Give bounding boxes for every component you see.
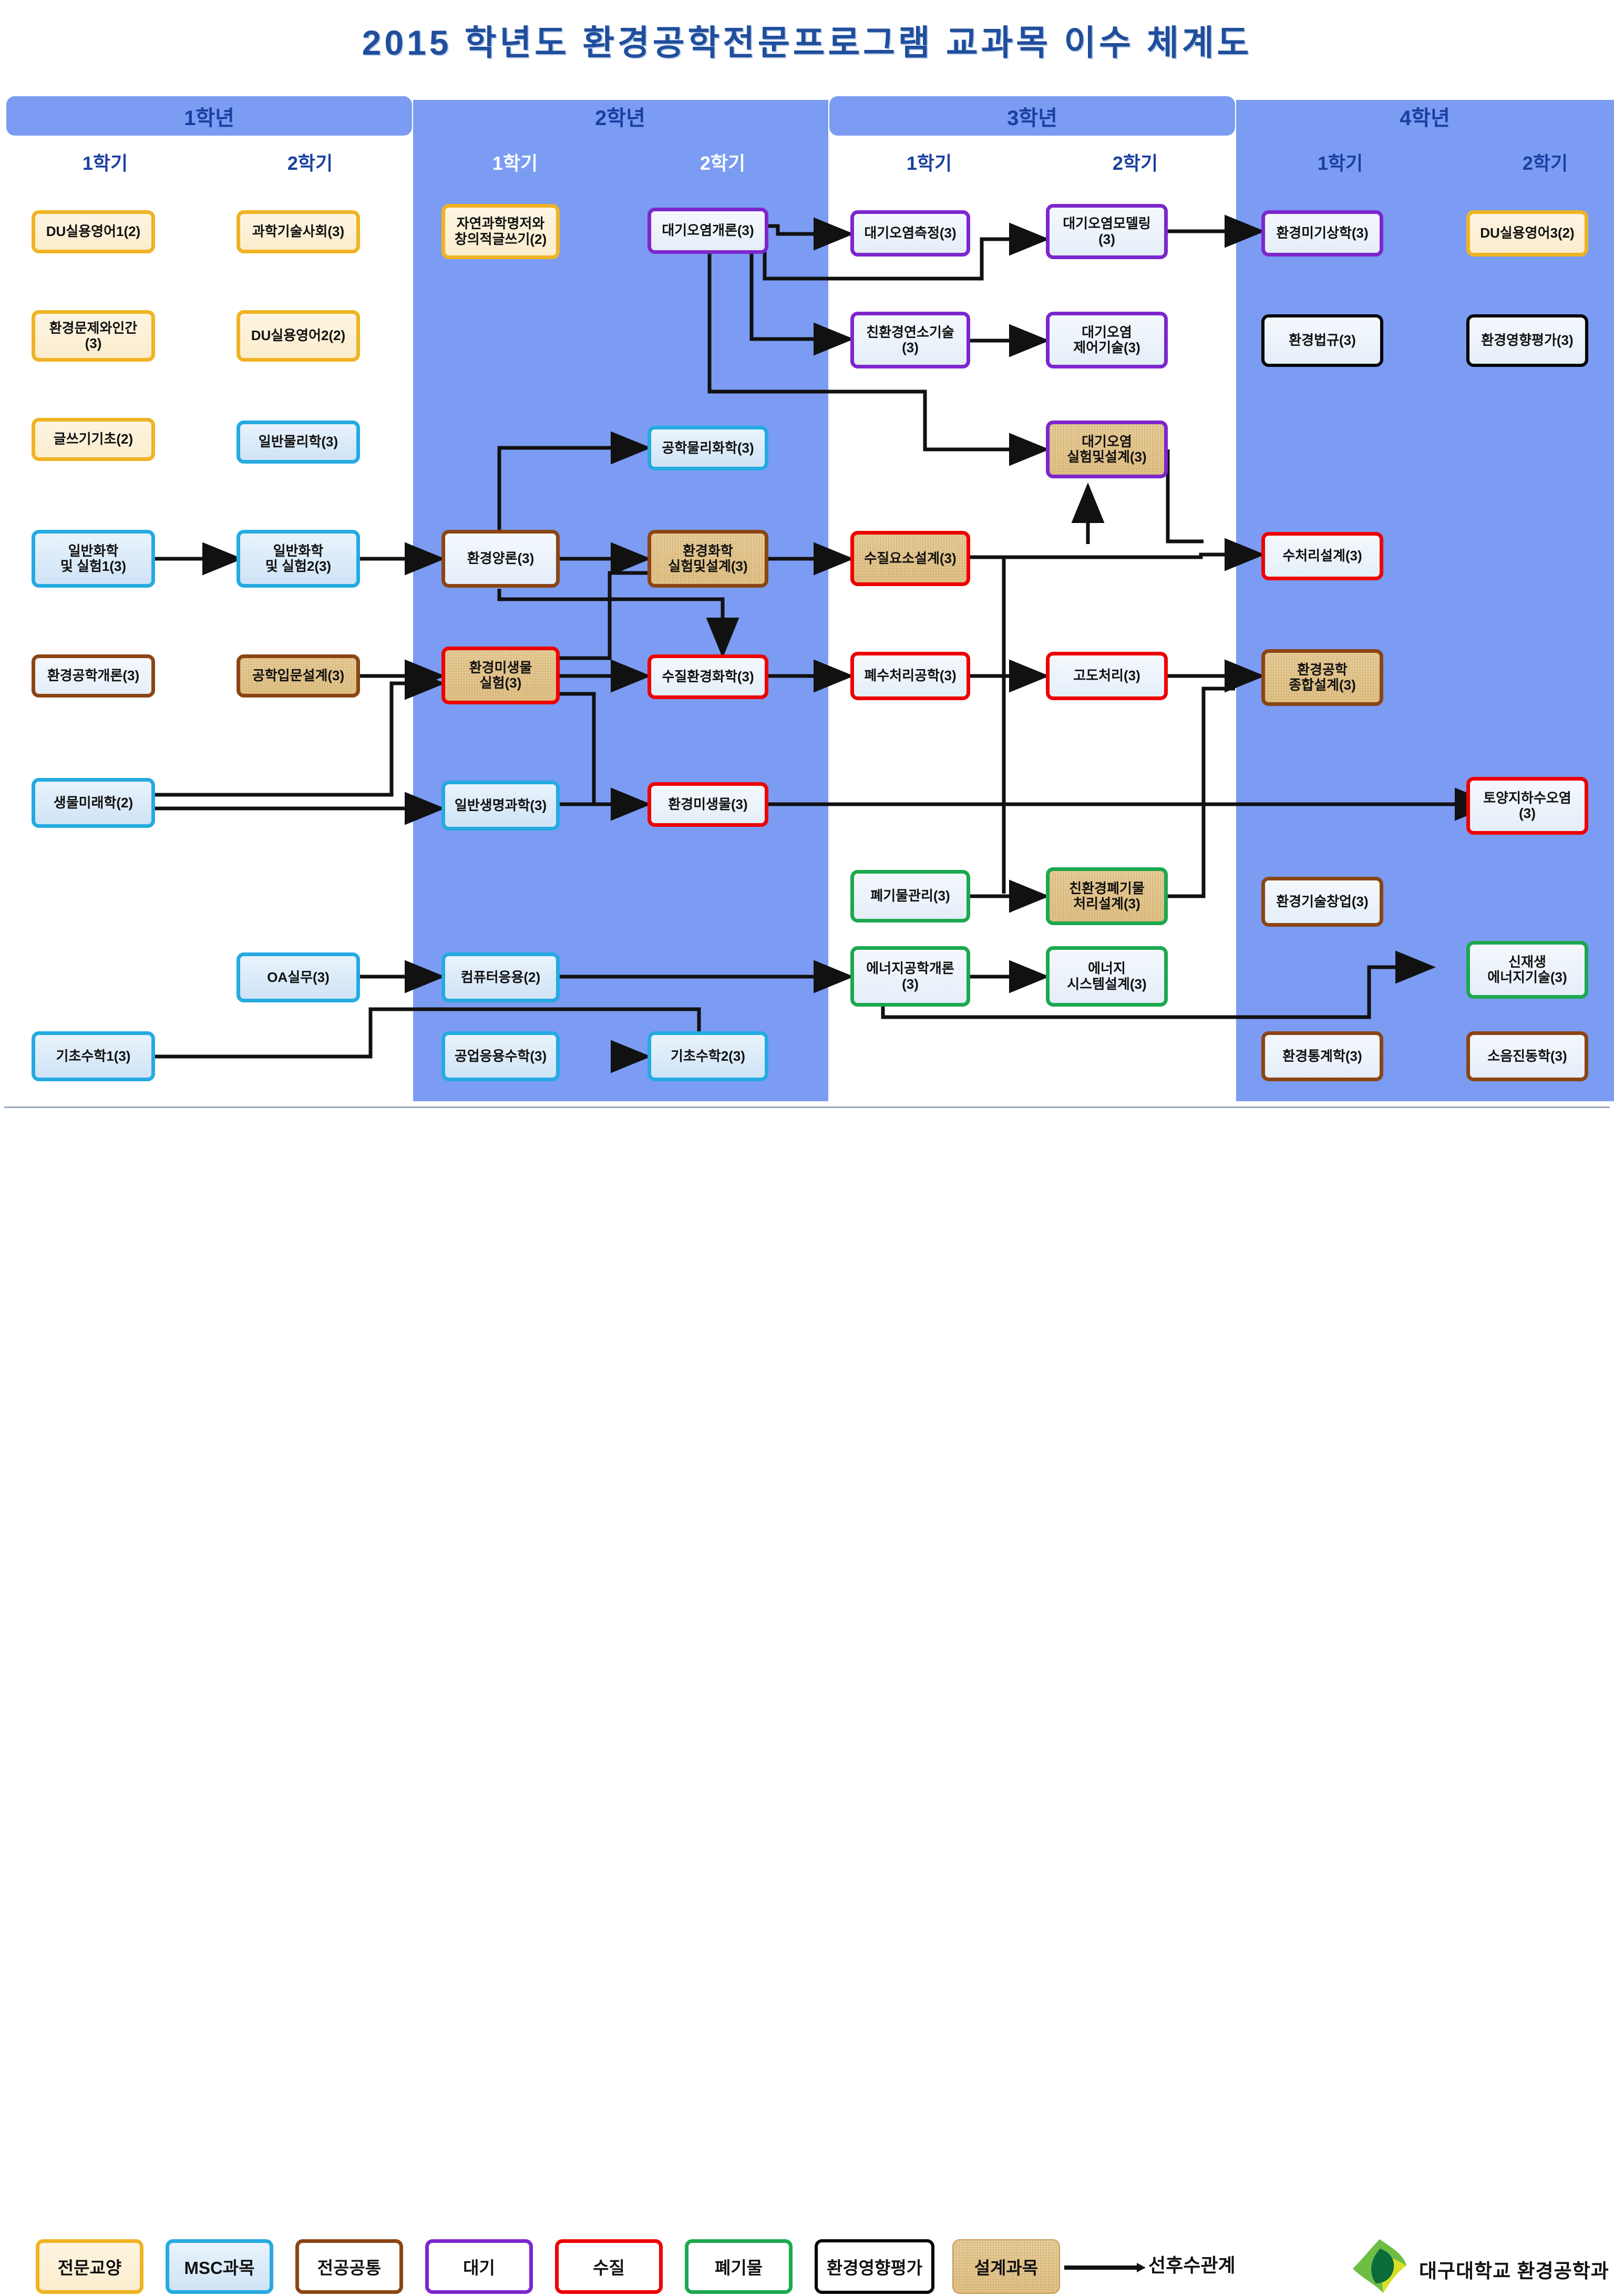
course-sciwrite[interactable]: 자연과학명저와 창의적글쓰기(2) (441, 204, 560, 259)
course-renewable[interactable]: 신재생 에너지기술(3) (1466, 941, 1588, 999)
course-advtreat[interactable]: 고도처리(3) (1046, 652, 1168, 700)
course-wastemgmt[interactable]: 폐기물관리(3) (850, 870, 970, 922)
year-header-1: 1학년 (6, 96, 412, 136)
course-aircontrol[interactable]: 대기오염 제어기술(3) (1046, 312, 1168, 368)
course-genphys[interactable]: 일반물리학(3) (237, 421, 360, 464)
prerequisite-arrow-icon (1064, 2262, 1146, 2273)
course-du3[interactable]: DU실용영어3(2) (1466, 210, 1588, 257)
course-ecowaste[interactable]: 친환경폐기물 처리설계(3) (1046, 867, 1168, 925)
course-waterunit[interactable]: 수질요소설계(3) (850, 531, 970, 586)
year-header-3: 3학년 (829, 96, 1235, 136)
legend-item-water: 수질 (555, 2239, 663, 2294)
course-biofuture[interactable]: 생물미래학(2) (32, 778, 155, 828)
course-engmath[interactable]: 공업응용수학(3) (441, 1031, 560, 1081)
course-envstats[interactable]: 환경통계학(3) (1261, 1031, 1383, 1081)
course-scitech[interactable]: 과학기술사회(3) (237, 210, 360, 253)
legend-item-design: 설계과목 (952, 2239, 1060, 2294)
course-waterchem[interactable]: 수질환경화학(3) (647, 654, 768, 699)
page-title: 2015 학년도 환경공학전문프로그램 교과목 이수 체계도 (0, 15, 1614, 65)
semester-label-y4s1: 1학기 (1240, 148, 1440, 176)
course-genchem1[interactable]: 일반화학 및 실험1(3) (32, 530, 155, 588)
legend-item-waste: 폐기물 (685, 2239, 793, 2294)
legend-item-msc: MSC과목 (166, 2239, 273, 2294)
course-envmicrolab[interactable]: 환경미생물 실험(3) (441, 647, 560, 704)
course-airmeasure[interactable]: 대기오염측정(3) (850, 210, 970, 257)
course-envmicro[interactable]: 환경미생물(3) (647, 782, 768, 827)
legend-arrow-label: 선후수관계 (1148, 2250, 1236, 2278)
course-energyintro[interactable]: 에너지공학개론 (3) (850, 946, 970, 1007)
legend-divider (4, 1106, 1610, 1108)
semester-label-y4s2: 2학기 (1445, 148, 1614, 176)
semester-label-y1s2: 2학기 (210, 148, 410, 176)
course-waterdesign[interactable]: 수처리설계(3) (1261, 532, 1383, 580)
course-du1[interactable]: DU실용영어1(2) (32, 210, 155, 253)
course-energysys[interactable]: 에너지 시스템설계(3) (1046, 946, 1168, 1007)
year-header-4: 4학년 (1238, 96, 1611, 136)
course-envquant[interactable]: 환경양론(3) (441, 530, 560, 588)
course-wastewater[interactable]: 폐수처리공학(3) (850, 652, 970, 700)
course-envcapstone[interactable]: 환경공학 종합설계(3) (1261, 649, 1383, 706)
course-du2[interactable]: DU실용영어2(2) (237, 310, 360, 362)
legend-item-general: 전문교양 (36, 2239, 143, 2294)
course-basicmath2[interactable]: 기초수학2(3) (647, 1031, 768, 1081)
course-airlab[interactable]: 대기오염 실험및설계(3) (1046, 421, 1168, 478)
course-envhuman[interactable]: 환경문제와인간 (3) (32, 310, 155, 362)
course-micrometeo[interactable]: 환경미기상학(3) (1261, 210, 1383, 257)
university-logo-icon (1351, 2238, 1409, 2296)
semester-label-y2s2: 2학기 (623, 148, 823, 176)
course-engintro[interactable]: 공학입문설계(3) (237, 654, 360, 698)
course-envintro[interactable]: 환경공학개론(3) (32, 654, 155, 698)
semester-label-y1s1: 1학기 (5, 148, 205, 176)
course-oa[interactable]: OA실무(3) (237, 952, 360, 1002)
course-airmodel[interactable]: 대기오염모델링 (3) (1046, 204, 1168, 259)
semester-label-y3s1: 1학기 (829, 148, 1029, 176)
course-genlife[interactable]: 일반생명과학(3) (441, 781, 560, 831)
course-envstartup[interactable]: 환경기술창업(3) (1261, 877, 1383, 927)
legend: 전문교양 MSC과목 전공공통 대기 수질 폐기물 환경영향평가 설계과목 선후… (0, 1113, 1614, 1208)
legend-item-air: 대기 (425, 2239, 533, 2294)
semester-label-y3s2: 2학기 (1035, 148, 1235, 176)
legend-item-eia: 환경영향평가 (815, 2239, 934, 2294)
course-comput[interactable]: 컴퓨터응용(2) (441, 952, 560, 1002)
course-ecocomb[interactable]: 친환경연소기술 (3) (850, 312, 970, 368)
course-engphyschem[interactable]: 공학물리화학(3) (647, 426, 768, 470)
course-basicmath1[interactable]: 기초수학1(3) (32, 1031, 155, 1081)
legend-item-major: 전공공통 (295, 2239, 403, 2294)
course-airintro[interactable]: 대기오염개론(3) (647, 208, 768, 254)
course-envlaw[interactable]: 환경법규(3) (1261, 314, 1383, 367)
course-soilwater[interactable]: 토양지하수오염 (3) (1466, 777, 1588, 835)
course-envchemlab[interactable]: 환경화학 실험및설계(3) (647, 530, 768, 588)
course-eia[interactable]: 환경영향평가(3) (1466, 314, 1588, 367)
course-noise[interactable]: 소음진동학(3) (1466, 1031, 1588, 1081)
course-writing[interactable]: 글쓰기기초(2) (32, 418, 155, 461)
year-header-2: 2학년 (415, 96, 825, 136)
organization-label: 대구대학교 환경공학과 (1419, 2255, 1609, 2283)
course-genchem2[interactable]: 일반화학 및 실험2(3) (237, 530, 360, 588)
semester-label-y2s1: 1학기 (415, 148, 615, 176)
